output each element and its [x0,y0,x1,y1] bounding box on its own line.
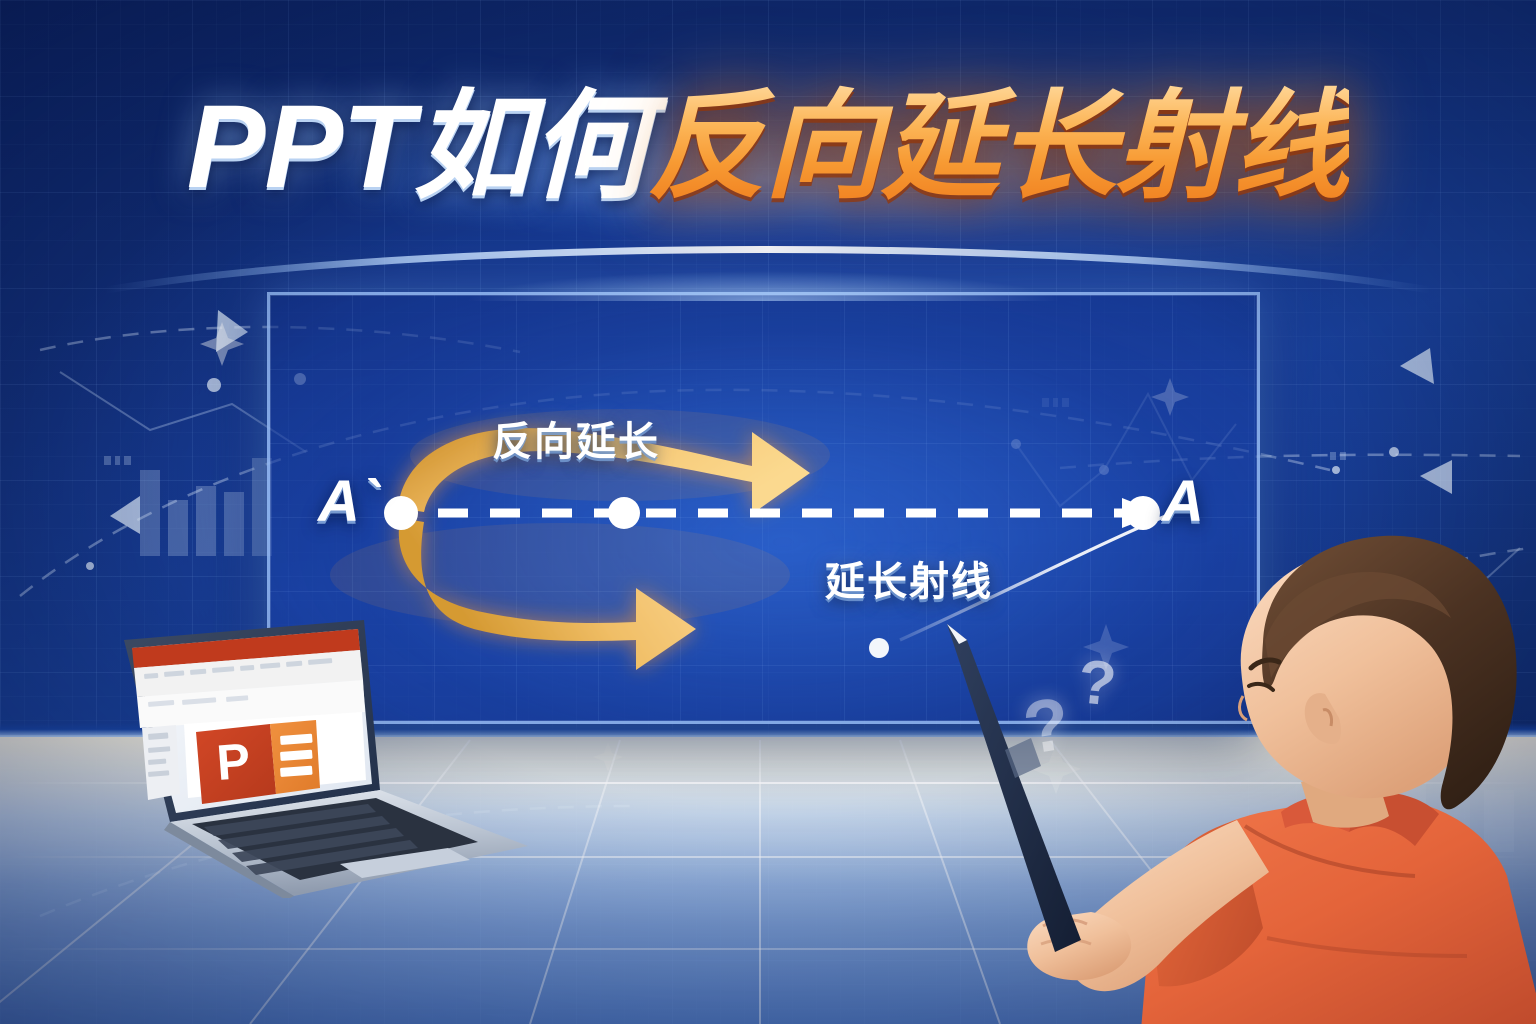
person-head [1240,536,1517,828]
title-part-orange: 反向延长射线 [647,81,1349,213]
person-illustration [945,520,1536,1024]
pen-icon [947,624,1081,952]
page-title: PPT如何反向延长射线 [187,84,1350,211]
label-reverse-extend: 反向延长 [492,409,660,467]
title-part-white: PPT如何 [187,81,648,213]
point-mid-dot [608,497,640,529]
point-a-prime-dot [384,496,418,530]
pen-target-dot [869,638,889,658]
laptop-illustration[interactable]: P [118,608,548,898]
label-point-a-prime: A` [318,468,379,535]
cover-illustration: PPT如何反向延长射线 [0,0,1536,1024]
page-title-block: PPT如何反向延长射线 [0,84,1536,211]
svg-text:P: P [215,733,252,791]
